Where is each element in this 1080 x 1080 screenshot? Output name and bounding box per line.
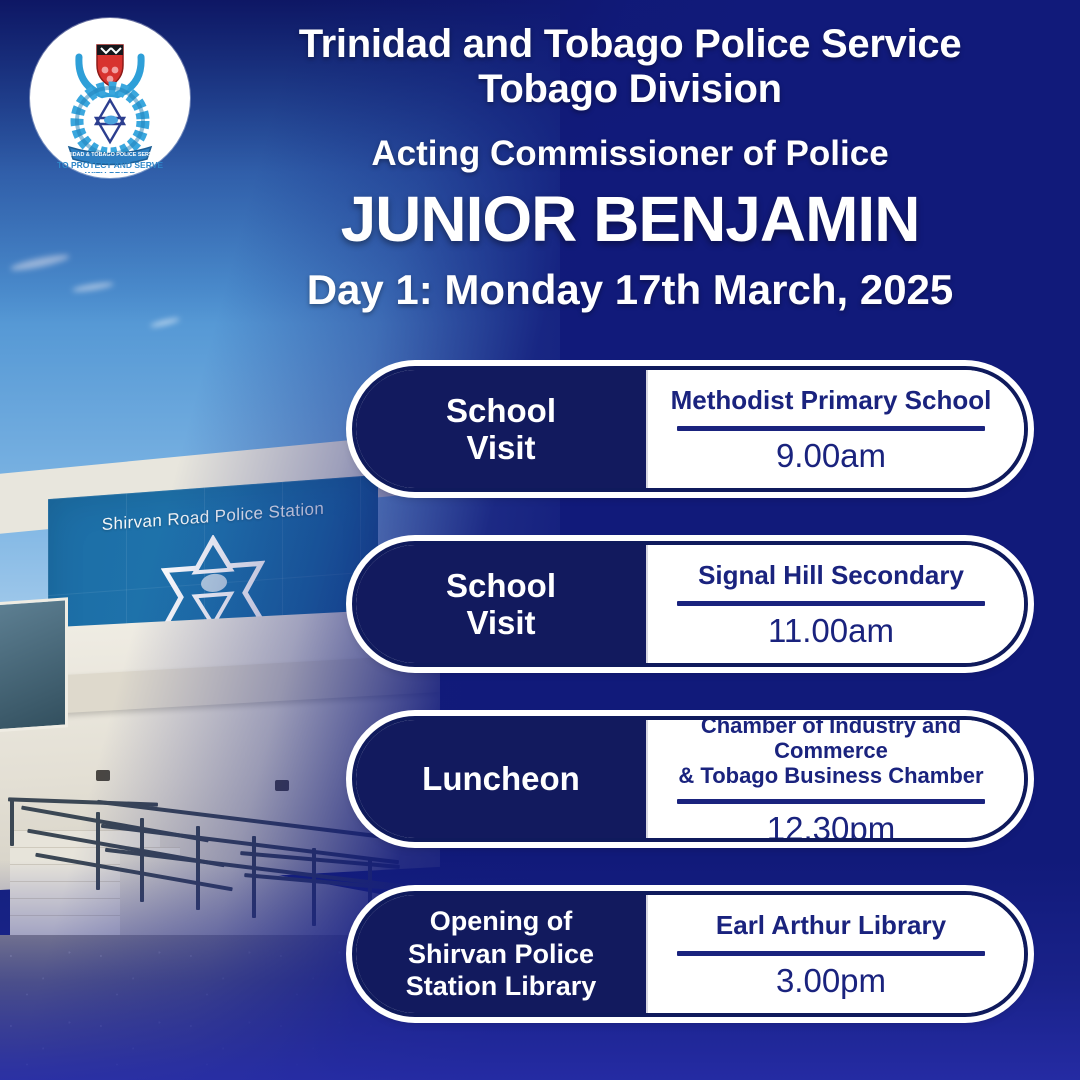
activity-label: SchoolVisit <box>356 370 646 488</box>
schedule-list: SchoolVisit Methodist Primary School 9.0… <box>352 366 1028 1017</box>
detail-panel: Earl Arthur Library 3.00pm <box>646 895 1024 1013</box>
location-name: Chamber of Industry and Commerce& Tobago… <box>664 716 998 788</box>
crest-icon: TRINIDAD & TOBAGO POLICE SERVICE TO PROT… <box>35 23 185 173</box>
schedule-row: Opening ofShirvan PoliceStation Library … <box>352 891 1028 1017</box>
schedule-row: SchoolVisit Signal Hill Secondary 11.00a… <box>352 541 1028 667</box>
location-name: Earl Arthur Library <box>716 911 946 941</box>
officer-name: JUNIOR BENJAMIN <box>210 182 1050 256</box>
crest-ribbon-text: TRINIDAD & TOBAGO POLICE SERVICE <box>59 152 162 158</box>
crest-motto-line1: TO PROTECT AND SERVE <box>57 160 163 170</box>
time-label: 12.30pm <box>767 812 895 842</box>
day-date-line: Day 1: Monday 17th March, 2025 <box>210 266 1050 314</box>
organisation-title: Trinidad and Tobago Police Service Tobag… <box>210 22 1050 112</box>
activity-label: SchoolVisit <box>356 545 646 663</box>
organisation-line-2: Tobago Division <box>210 67 1050 112</box>
organisation-line-1: Trinidad and Tobago Police Service <box>210 22 1050 67</box>
activity-label: Opening ofShirvan PoliceStation Library <box>356 895 646 1013</box>
schedule-row: Luncheon Chamber of Industry and Commerc… <box>352 716 1028 842</box>
detail-panel: Chamber of Industry and Commerce& Tobago… <box>646 720 1024 838</box>
header-block: Trinidad and Tobago Police Service Tobag… <box>210 22 1050 314</box>
time-label: 3.00pm <box>776 964 886 997</box>
poster-canvas: Shirvan Road Police Station to protect a… <box>0 0 1080 1080</box>
officer-rank: Acting Commissioner of Police <box>210 134 1050 174</box>
activity-label: Luncheon <box>356 720 646 838</box>
ttps-crest-badge: TRINIDAD & TOBAGO POLICE SERVICE TO PROT… <box>30 18 190 178</box>
location-name: Signal Hill Secondary <box>698 561 964 591</box>
divider-rule <box>677 951 985 956</box>
location-name: Methodist Primary School <box>671 386 992 416</box>
schedule-row: SchoolVisit Methodist Primary School 9.0… <box>352 366 1028 492</box>
divider-rule <box>677 799 985 804</box>
divider-rule <box>677 426 985 431</box>
detail-panel: Signal Hill Secondary 11.00am <box>646 545 1024 663</box>
time-label: 11.00am <box>768 614 894 647</box>
crest-motto-line2: WITH PRIDE <box>85 170 135 173</box>
time-label: 9.00am <box>776 439 886 472</box>
detail-panel: Methodist Primary School 9.00am <box>646 370 1024 488</box>
divider-rule <box>677 601 985 606</box>
